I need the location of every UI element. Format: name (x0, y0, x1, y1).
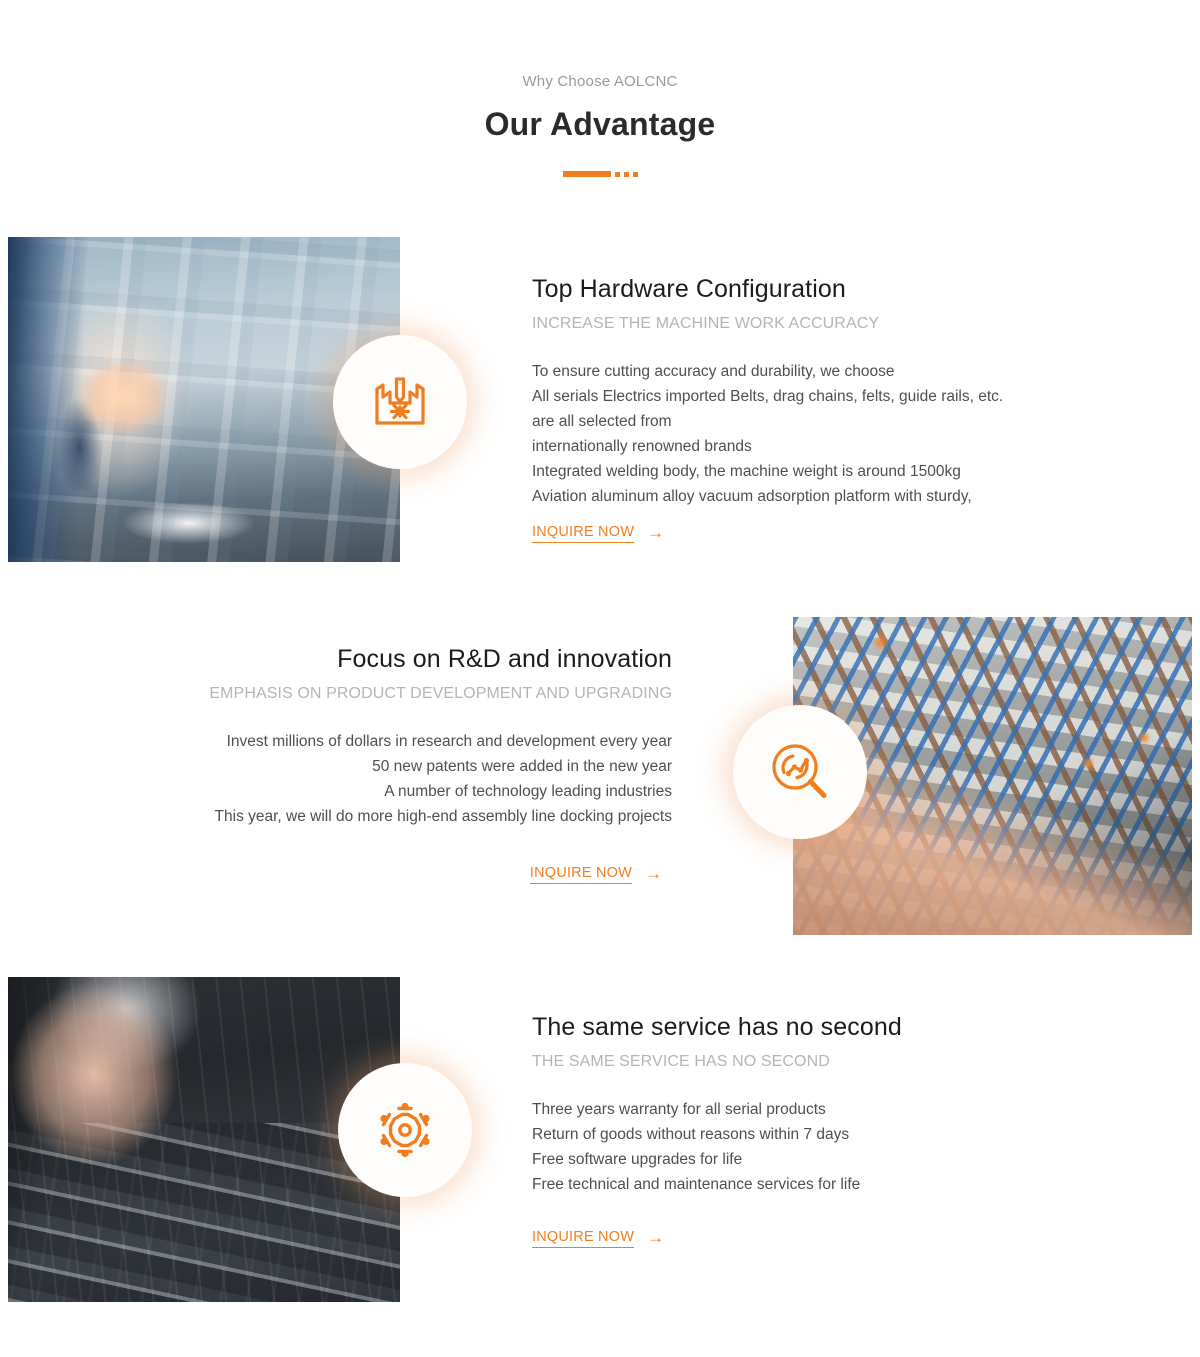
arrow-right-icon: → (647, 524, 664, 541)
divider-dot-1 (615, 172, 620, 177)
body-line: Aviation aluminum alloy vacuum adsorptio… (532, 484, 1132, 509)
section-subtitle: THE SAME SERVICE HAS NO SECOND (532, 1049, 1132, 1075)
body-line: This year, we will do more high-end asse… (60, 804, 672, 829)
body-line: are all selected from (532, 409, 1132, 434)
section-body: Three years warranty for all serial prod… (532, 1097, 1132, 1197)
header-divider (0, 170, 1200, 178)
body-line: Integrated welding body, the machine wei… (532, 459, 1132, 484)
section-body: Invest millions of dollars in research a… (60, 729, 672, 829)
advantage-section-rnd-innovation: Focus on R&D and innovation EMPHASIS ON … (0, 617, 1200, 937)
page-header: Why Choose AOLCNC Our Advantage (0, 0, 1200, 178)
body-line: Free technical and maintenance services … (532, 1172, 1132, 1197)
section-subtitle: INCREASE THE MACHINE WORK ACCURACY (532, 311, 1132, 337)
research-magnifier-icon (733, 705, 867, 839)
body-line: Return of goods without reasons within 7… (532, 1122, 1132, 1147)
section-title: Top Hardware Configuration (532, 272, 1132, 306)
section-title: The same service has no second (532, 1010, 1132, 1044)
section-subtitle: EMPHASIS ON PRODUCT DEVELOPMENT AND UPGR… (60, 681, 672, 707)
body-line: Invest millions of dollars in research a… (60, 729, 672, 754)
inquire-now-link[interactable]: INQUIRE NOW → (532, 1229, 664, 1248)
inquire-now-label: INQUIRE NOW (530, 865, 632, 884)
arrow-right-icon: → (647, 1229, 664, 1246)
inquire-now-label: INQUIRE NOW (532, 524, 634, 543)
advantage-section-top-hardware: Top Hardware Configuration INCREASE THE … (0, 237, 1200, 567)
body-line: 50 new patents were added in the new yea… (60, 754, 672, 779)
advantage-section-service: The same service has no second THE SAME … (0, 977, 1200, 1297)
body-line: A number of technology leading industrie… (60, 779, 672, 804)
section-body: To ensure cutting accuracy and durabilit… (532, 359, 1132, 509)
header-eyebrow: Why Choose AOLCNC (0, 72, 1200, 92)
inquire-now-link[interactable]: INQUIRE NOW → (532, 524, 664, 543)
hexagon-network-gear-icon (338, 1063, 472, 1197)
section-text-column: The same service has no second THE SAME … (532, 1010, 1132, 1248)
body-line: Three years warranty for all serial prod… (532, 1097, 1132, 1122)
section-title: Focus on R&D and innovation (60, 642, 672, 676)
arrow-right-icon: → (645, 865, 662, 882)
divider-dot-3 (633, 172, 638, 177)
section-text-column: Focus on R&D and innovation EMPHASIS ON … (60, 642, 672, 884)
body-line: To ensure cutting accuracy and durabilit… (532, 359, 1132, 384)
body-line: Free software upgrades for life (532, 1147, 1132, 1172)
body-line: internationally renowned brands (532, 434, 1132, 459)
inquire-now-link[interactable]: INQUIRE NOW → (530, 865, 662, 884)
page-title: Our Advantage (0, 104, 1200, 144)
cnc-cutting-machine-icon (333, 335, 467, 469)
body-line: All serials Electrics imported Belts, dr… (532, 384, 1132, 409)
section-text-column: Top Hardware Configuration INCREASE THE … (532, 272, 1132, 543)
inquire-now-label: INQUIRE NOW (532, 1229, 634, 1248)
divider-bar (563, 171, 611, 177)
divider-dot-2 (624, 172, 629, 177)
